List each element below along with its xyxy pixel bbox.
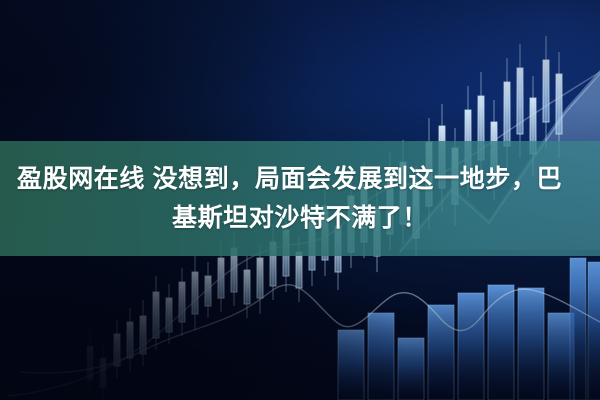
promo-banner-image: 盈股网在线 没想到，局面会发展到这一地步，巴 基斯坦对沙特不满了！ <box>0 0 600 400</box>
headline-line-1: 盈股网在线 没想到，局面会发展到这一地步，巴 <box>0 160 562 199</box>
headline-line-2: 基斯坦对沙特不满了！ <box>172 199 428 238</box>
headline-banner: 盈股网在线 没想到，局面会发展到这一地步，巴 基斯坦对沙特不满了！ <box>0 141 600 256</box>
